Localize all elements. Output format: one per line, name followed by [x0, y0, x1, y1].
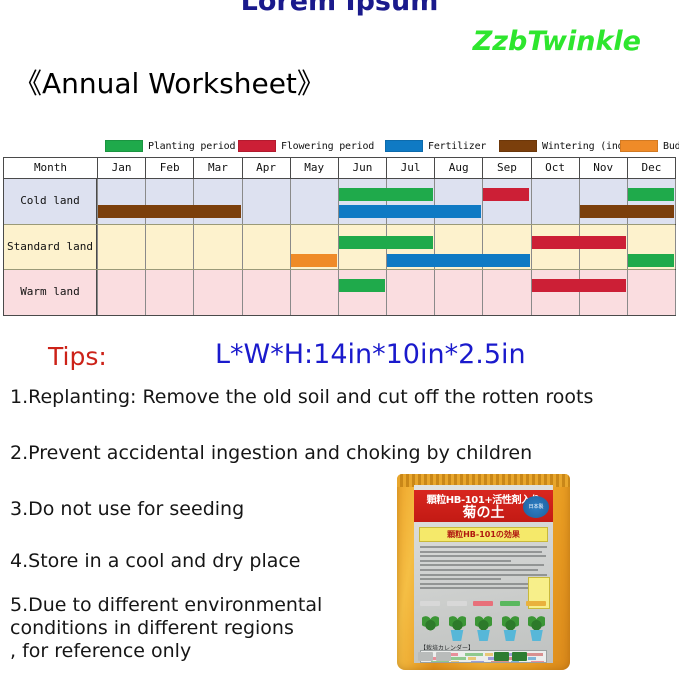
- product-bag-image: 顆粒HB-101+活性剤入り 菊の土 日本製 顆粒HB-101の効果: [397, 474, 570, 670]
- gantt-bar-wintering-indoors: [98, 205, 241, 218]
- grid-line: [145, 225, 146, 269]
- tip-item-2: 2.Prevent accidental ingestion and choki…: [10, 442, 532, 465]
- gantt-bar-flowering-period: [532, 279, 626, 292]
- legend-label: Buds: [663, 141, 679, 152]
- bag-calendar-segment: [471, 661, 484, 663]
- annual-worksheet-table: MonthJanFebMarAprMayJunJulAugSepOctNovDe…: [3, 157, 676, 316]
- row-label-warm-land: Warm land: [4, 270, 97, 315]
- bag-step-3: [473, 601, 495, 641]
- grid-line: [242, 179, 243, 224]
- gantt-bar-flowering-period: [532, 236, 626, 249]
- table-header-jun: Jun: [338, 158, 386, 178]
- row-label-standard-land: Standard land: [4, 225, 97, 269]
- legend-swatch-icon: [105, 140, 143, 152]
- grid-line: [242, 225, 243, 269]
- legend-swatch-icon: [385, 140, 423, 152]
- table-header-row: MonthJanFebMarAprMayJunJulAugSepOctNovDe…: [4, 158, 675, 179]
- table-header-sep: Sep: [482, 158, 530, 178]
- bag-step-1: [420, 601, 442, 641]
- grid-line: [627, 270, 628, 315]
- table-row-warm-land: Warm land: [4, 270, 675, 315]
- tip-item-1: 1.Replanting: Remove the old soil and cu…: [10, 386, 593, 409]
- legend-item-planting-period: Planting period: [105, 138, 235, 154]
- grid-line: [145, 270, 146, 315]
- legend-item-flowering-period: Flowering period: [238, 138, 374, 154]
- table-row-standard-land: Standard land: [4, 224, 675, 270]
- bag-step-5: [526, 601, 548, 641]
- gantt-bar-planting-period: [339, 279, 385, 292]
- bag-step-4: [500, 601, 522, 641]
- tip-item-4: 4.Store in a cool and dry place: [10, 550, 301, 573]
- grid-line: [434, 270, 435, 315]
- brand-blue-heading: Lorem Ipsum: [0, 0, 679, 17]
- bag-red-banner: 顆粒HB-101+活性剤入り 菊の土 日本製: [414, 490, 553, 522]
- grid-line: [97, 270, 98, 315]
- legend-swatch-icon: [238, 140, 276, 152]
- legend-swatch-icon: [499, 140, 537, 152]
- grid-line: [290, 179, 291, 224]
- chart-legend: Planting periodFlowering periodFertilize…: [0, 138, 679, 154]
- bag-calendar-segment: [511, 661, 519, 663]
- bag-front-label: 顆粒HB-101+活性剤入り 菊の土 日本製 顆粒HB-101の効果: [414, 485, 553, 663]
- grid-line: [675, 270, 676, 315]
- grid-line: [338, 270, 339, 315]
- table-header-nov: Nov: [579, 158, 627, 178]
- tips-label: Tips:: [48, 342, 107, 371]
- table-header-dec: Dec: [627, 158, 675, 178]
- gantt-bar-fertilizer: [339, 205, 482, 218]
- gantt-bar-planting-period: [339, 236, 433, 249]
- bag-calendar-segment: [531, 661, 544, 663]
- legend-label: Planting period: [148, 141, 235, 152]
- grid-line: [290, 270, 291, 315]
- grid-line: [193, 270, 194, 315]
- tip-item-3: 3.Do not use for seeding: [10, 498, 244, 521]
- brand-green-logo: ZzbTwinkle: [473, 26, 641, 57]
- bag-made-in-japan-badge: 日本製: [523, 496, 549, 518]
- table-header-jan: Jan: [97, 158, 145, 178]
- bag-calendar-segment: [491, 661, 509, 663]
- bag-footer-icons: [418, 651, 549, 661]
- bag-planting-steps: [420, 601, 548, 641]
- table-header-jul: Jul: [386, 158, 434, 178]
- row-label-cold-land: Cold land: [4, 179, 97, 224]
- legend-item-fertilizer: Fertilizer: [385, 138, 486, 154]
- gantt-bar-planting-period: [628, 188, 674, 201]
- tip-item-5: 5.Due to different environmental conditi…: [10, 594, 322, 664]
- grid-line: [579, 270, 580, 315]
- legend-label: Flowering period: [281, 141, 374, 152]
- grid-line: [193, 225, 194, 269]
- table-row-cold-land: Cold land: [4, 179, 675, 224]
- grid-line: [531, 179, 532, 224]
- bag-calendar-segment: [451, 661, 459, 663]
- grid-line: [97, 225, 98, 269]
- gantt-bar-planting-period: [628, 254, 674, 267]
- gantt-bar-planting-period: [339, 188, 433, 201]
- table-header-may: May: [290, 158, 338, 178]
- gantt-bar-wintering-indoors: [580, 205, 674, 218]
- table-header-month-label: Month: [4, 158, 97, 178]
- gantt-bar-fertilizer: [387, 254, 530, 267]
- product-dimensions: L*W*H:14in*10in*2.5in: [215, 339, 526, 370]
- gantt-bar-buds: [291, 254, 337, 267]
- table-header-feb: Feb: [145, 158, 193, 178]
- grid-line: [675, 225, 676, 269]
- bag-step-2: [447, 601, 469, 641]
- table-header-apr: Apr: [242, 158, 290, 178]
- bag-calendar-segment: [431, 661, 449, 663]
- legend-swatch-icon: [620, 140, 658, 152]
- legend-label: Fertilizer: [428, 141, 486, 152]
- grid-line: [482, 179, 483, 224]
- table-header-mar: Mar: [193, 158, 241, 178]
- page-title: 《Annual Worksheet》: [14, 62, 325, 102]
- legend-item-buds: Buds: [620, 138, 679, 154]
- grid-line: [675, 179, 676, 224]
- bag-effect-band: 顆粒HB-101の効果: [419, 527, 548, 542]
- table-header-aug: Aug: [434, 158, 482, 178]
- grid-line: [531, 270, 532, 315]
- table-header-oct: Oct: [531, 158, 579, 178]
- gantt-bar-flowering-period: [483, 188, 529, 201]
- grid-line: [386, 270, 387, 315]
- grid-line: [482, 270, 483, 315]
- grid-line: [242, 270, 243, 315]
